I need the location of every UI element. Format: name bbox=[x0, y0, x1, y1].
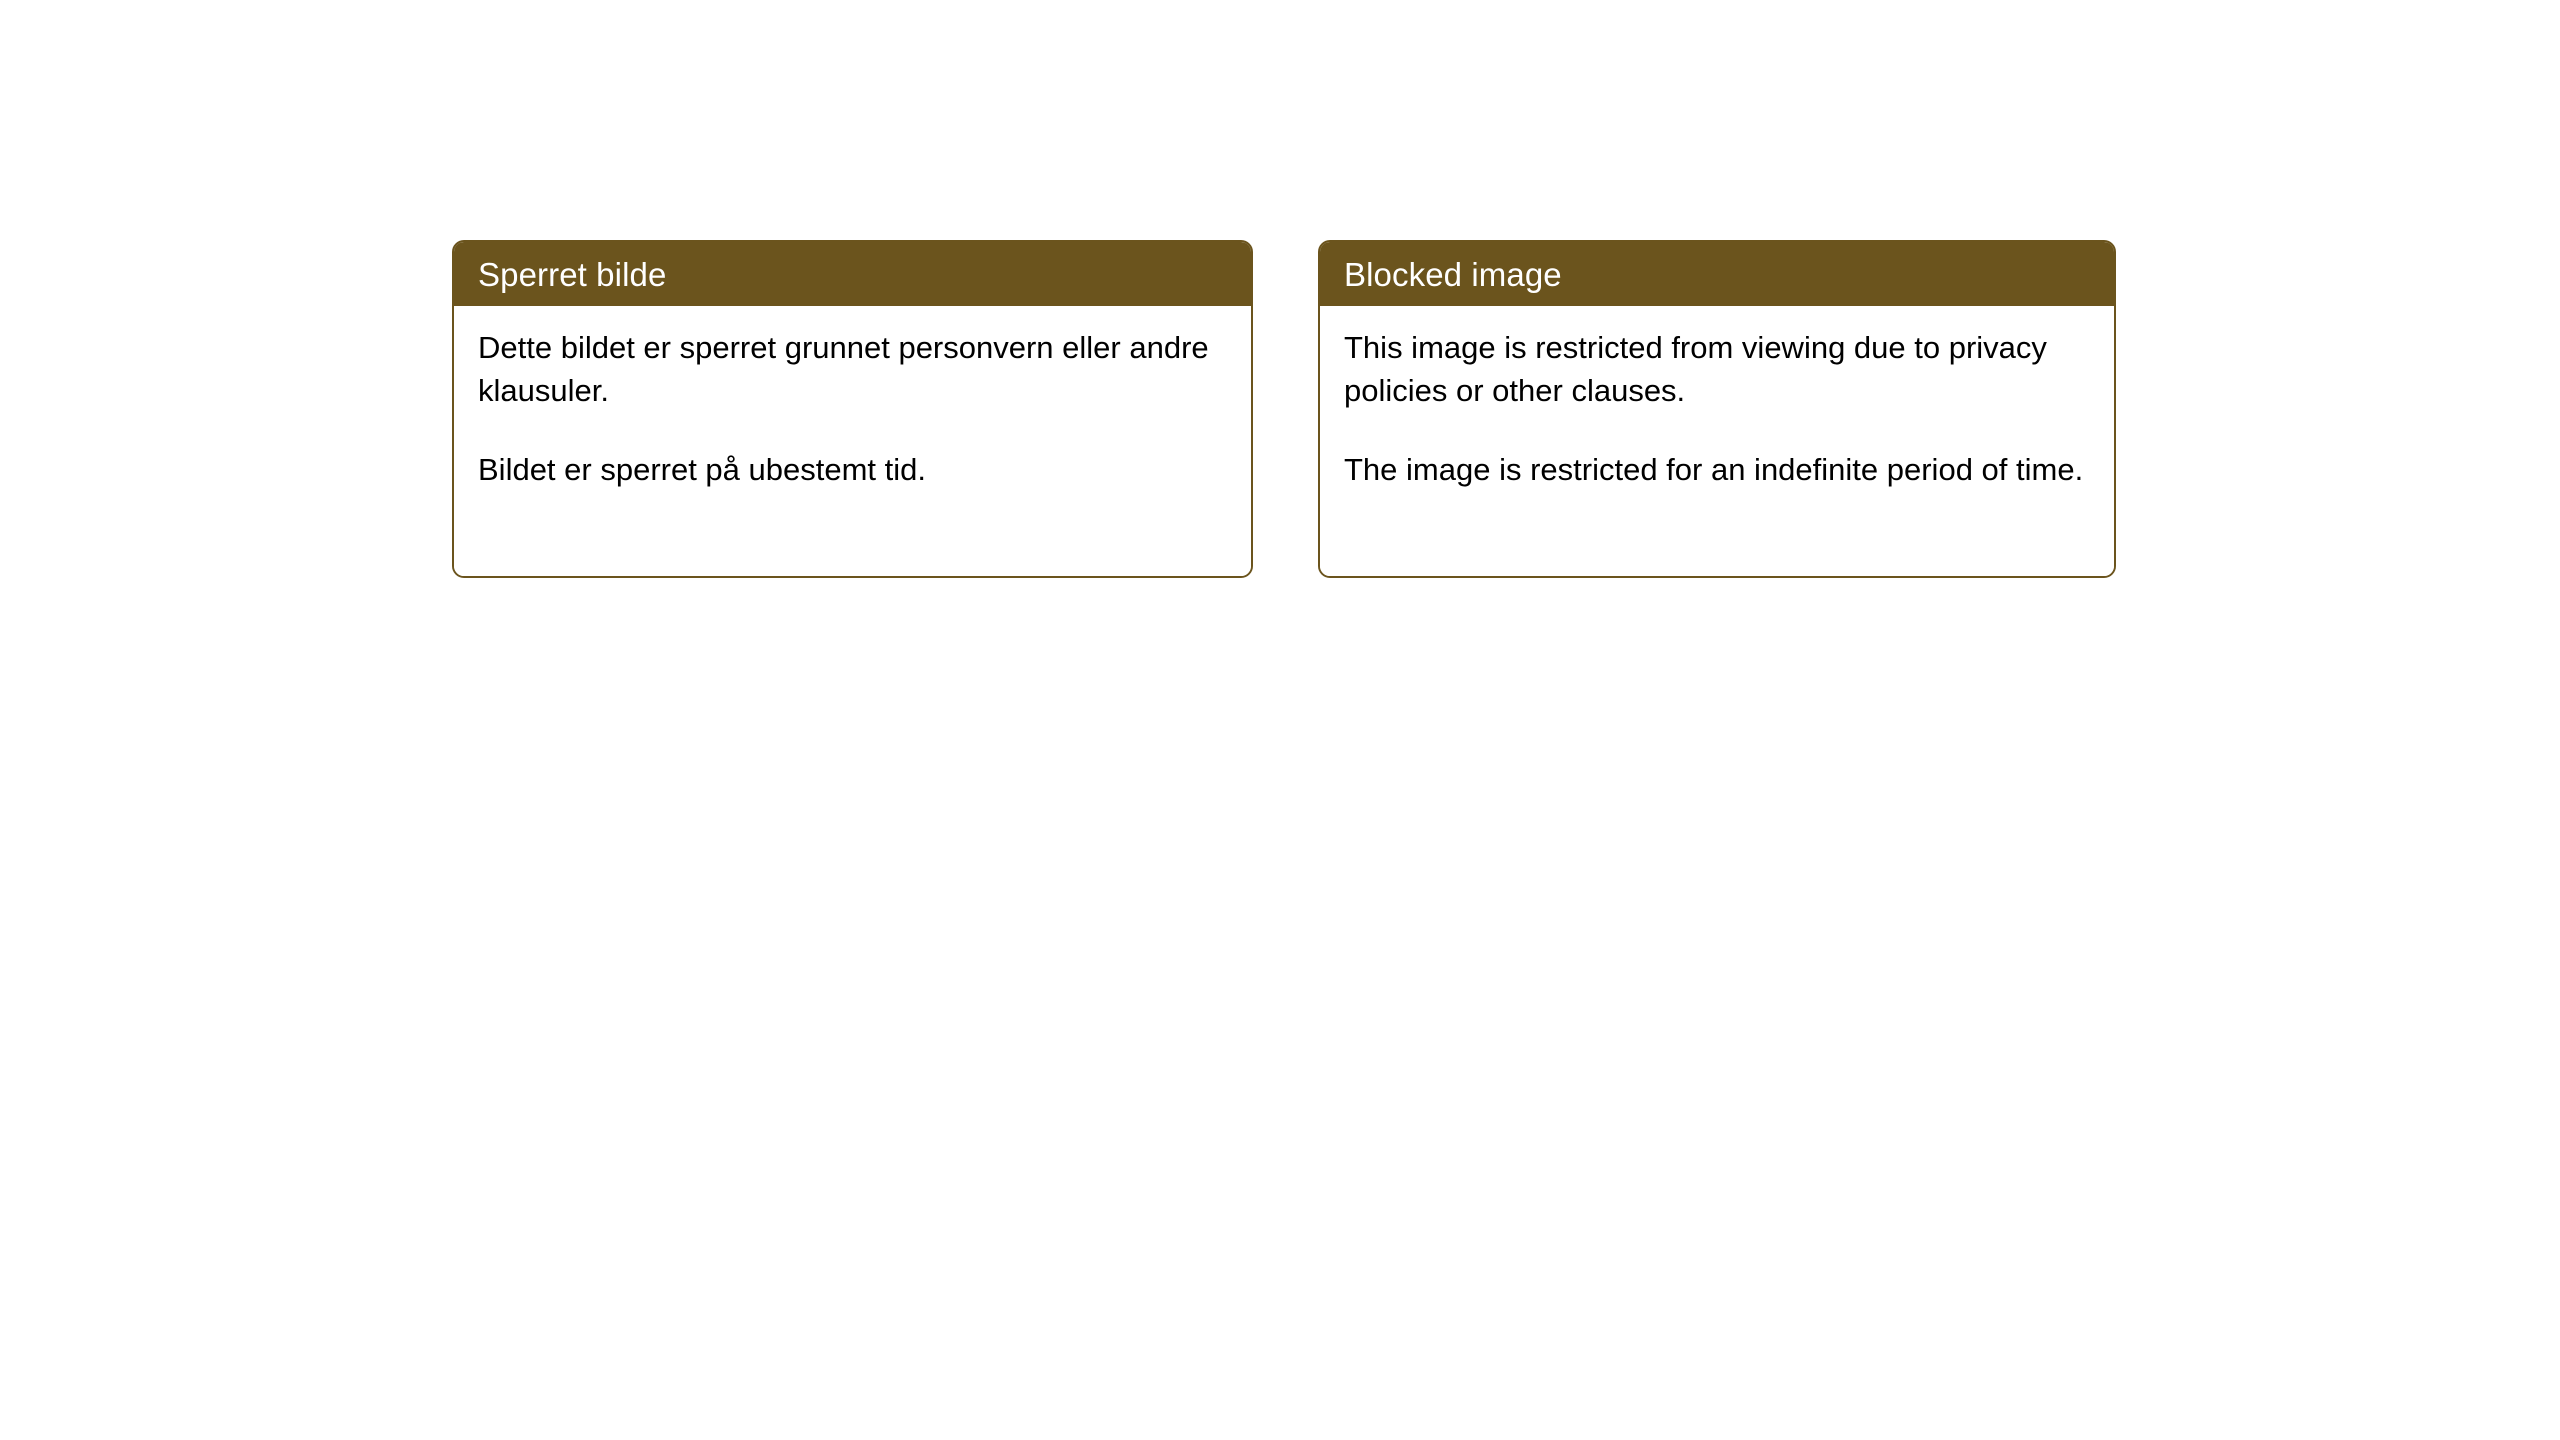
card-header-norwegian: Sperret bilde bbox=[454, 242, 1251, 306]
card-paragraph-reason-english: This image is restricted from viewing du… bbox=[1344, 326, 2092, 412]
card-header-english: Blocked image bbox=[1320, 242, 2114, 306]
blocked-image-notices: Sperret bilde Dette bildet er sperret gr… bbox=[452, 240, 2116, 578]
card-paragraph-duration-norwegian: Bildet er sperret på ubestemt tid. bbox=[478, 448, 1229, 491]
card-paragraph-duration-english: The image is restricted for an indefinit… bbox=[1344, 448, 2092, 491]
card-title-norwegian: Sperret bilde bbox=[478, 258, 666, 291]
card-body-norwegian: Dette bildet er sperret grunnet personve… bbox=[454, 306, 1251, 576]
blocked-image-card-english: Blocked image This image is restricted f… bbox=[1318, 240, 2116, 578]
blocked-image-card-norwegian: Sperret bilde Dette bildet er sperret gr… bbox=[452, 240, 1253, 578]
card-paragraph-reason-norwegian: Dette bildet er sperret grunnet personve… bbox=[478, 326, 1229, 412]
card-title-english: Blocked image bbox=[1344, 258, 1562, 291]
card-body-english: This image is restricted from viewing du… bbox=[1320, 306, 2114, 576]
